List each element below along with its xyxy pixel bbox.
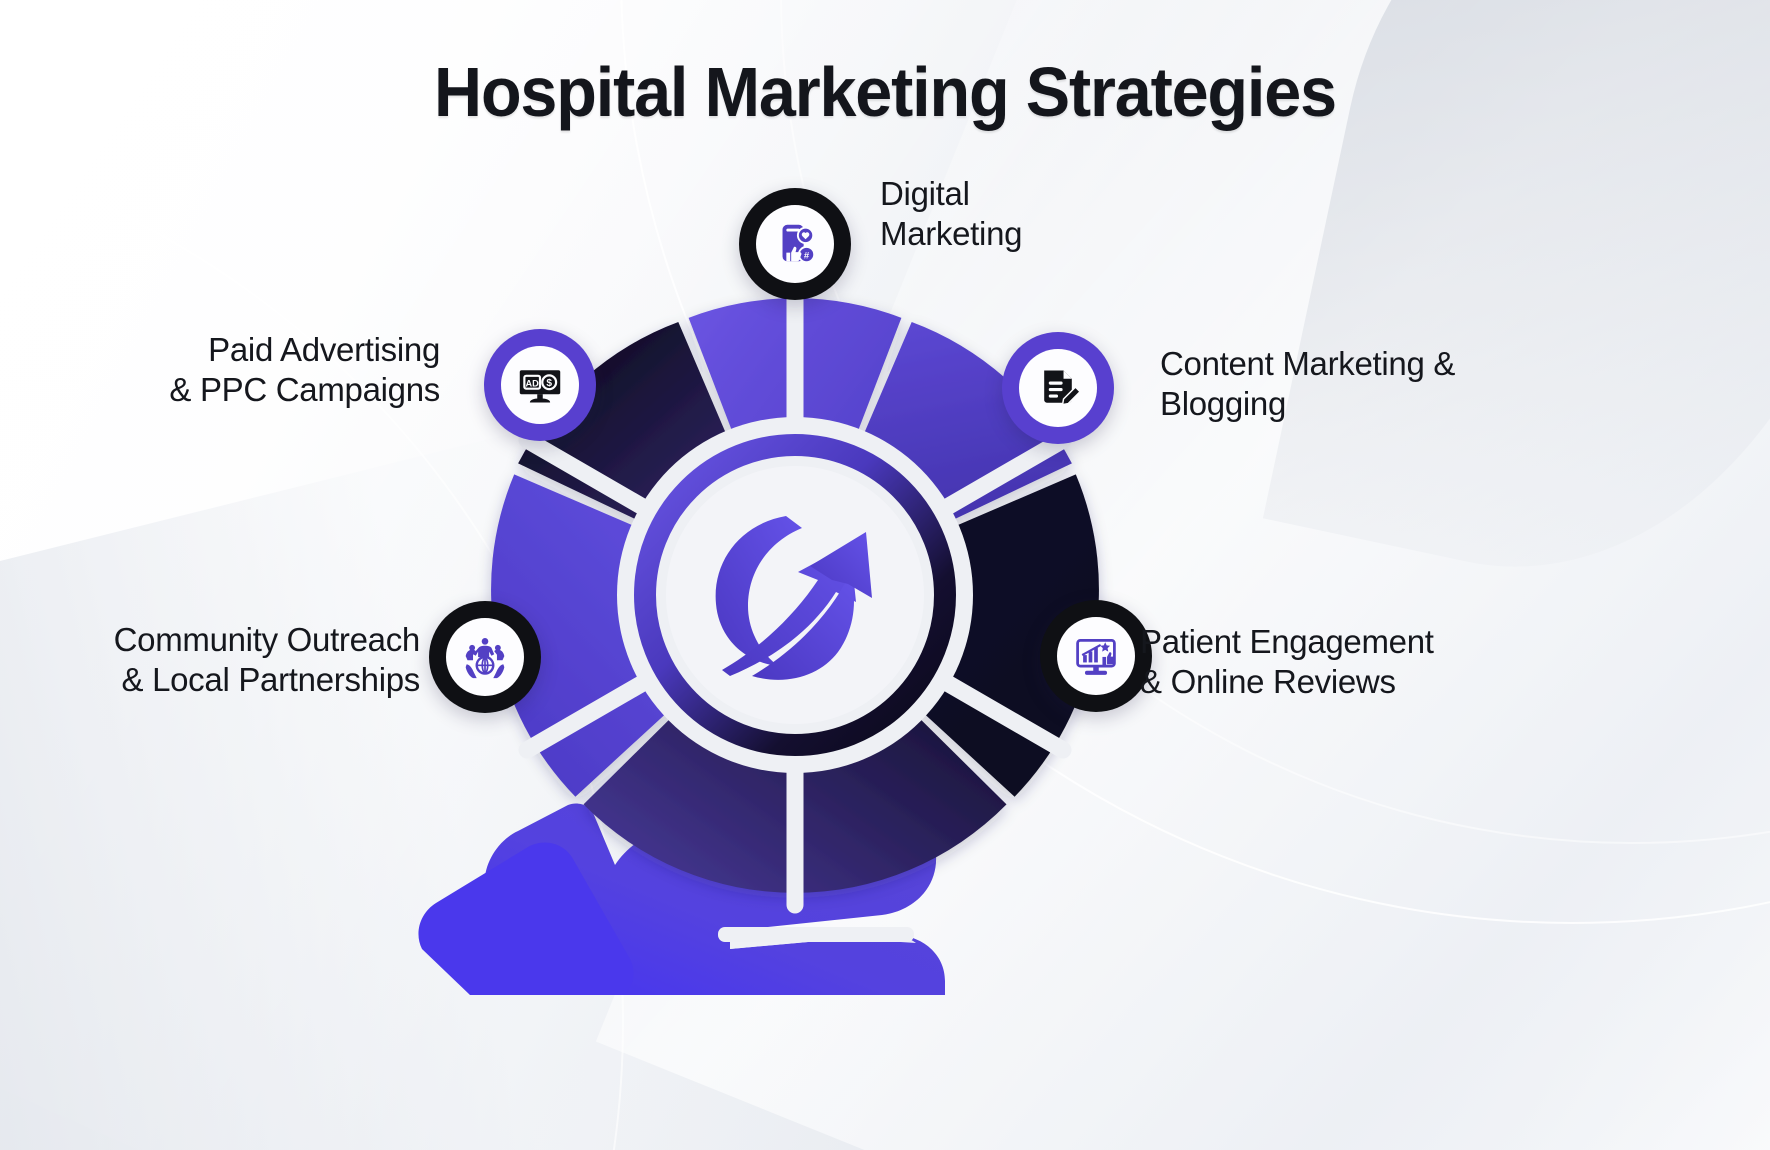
label-line-2: Blogging [1160, 384, 1540, 424]
badge-content-marketing[interactable] [1002, 332, 1114, 444]
label-line-2: & PPC Campaigns [60, 370, 440, 410]
hands-people-globe-icon [462, 634, 508, 680]
growth-arrow-swoosh-logo [690, 480, 900, 695]
badge-inner [446, 618, 524, 696]
label-line-1: Community Outreach [20, 620, 420, 660]
badge-inner: AD $ [501, 346, 579, 424]
badge-digital-marketing[interactable]: # [739, 188, 851, 300]
badge-inner: # [756, 205, 834, 283]
label-content-marketing: Content Marketing & Blogging [1160, 344, 1540, 425]
document-pencil-icon [1035, 365, 1081, 411]
label-line-2: & Online Reviews [1140, 662, 1540, 702]
badge-inner [1019, 349, 1097, 427]
label-paid-advertising: Paid Advertising & PPC Campaigns [60, 330, 440, 411]
label-community-outreach: Community Outreach & Local Partnerships [20, 620, 420, 701]
label-line-1: Digital [880, 174, 1210, 214]
monitor-chart-star-thumbsup-icon [1073, 633, 1119, 679]
label-line-2: & Local Partnerships [20, 660, 420, 700]
page-title: Hospital Marketing Strategies [44, 52, 1726, 132]
badge-paid-advertising[interactable]: AD $ [484, 329, 596, 441]
svg-text:$: $ [546, 378, 552, 389]
svg-text:#: # [804, 250, 810, 261]
label-line-2: Marketing [880, 214, 1210, 254]
badge-community-outreach[interactable] [429, 601, 541, 713]
smartphone-social-thumbsup-icon: # [771, 220, 819, 268]
monitor-ad-dollar-icon: AD $ [517, 362, 563, 408]
badge-patient-engagement[interactable] [1040, 600, 1152, 712]
badge-inner [1057, 617, 1135, 695]
label-line-1: Patient Engagement [1140, 622, 1540, 662]
infographic-canvas: Hospital Marketing Strategies [0, 0, 1770, 1150]
label-line-1: Paid Advertising [60, 330, 440, 370]
label-digital-marketing: Digital Marketing [880, 174, 1210, 255]
label-patient-engagement: Patient Engagement & Online Reviews [1140, 622, 1540, 703]
label-line-1: Content Marketing & [1160, 344, 1540, 384]
svg-text:AD: AD [526, 378, 540, 388]
